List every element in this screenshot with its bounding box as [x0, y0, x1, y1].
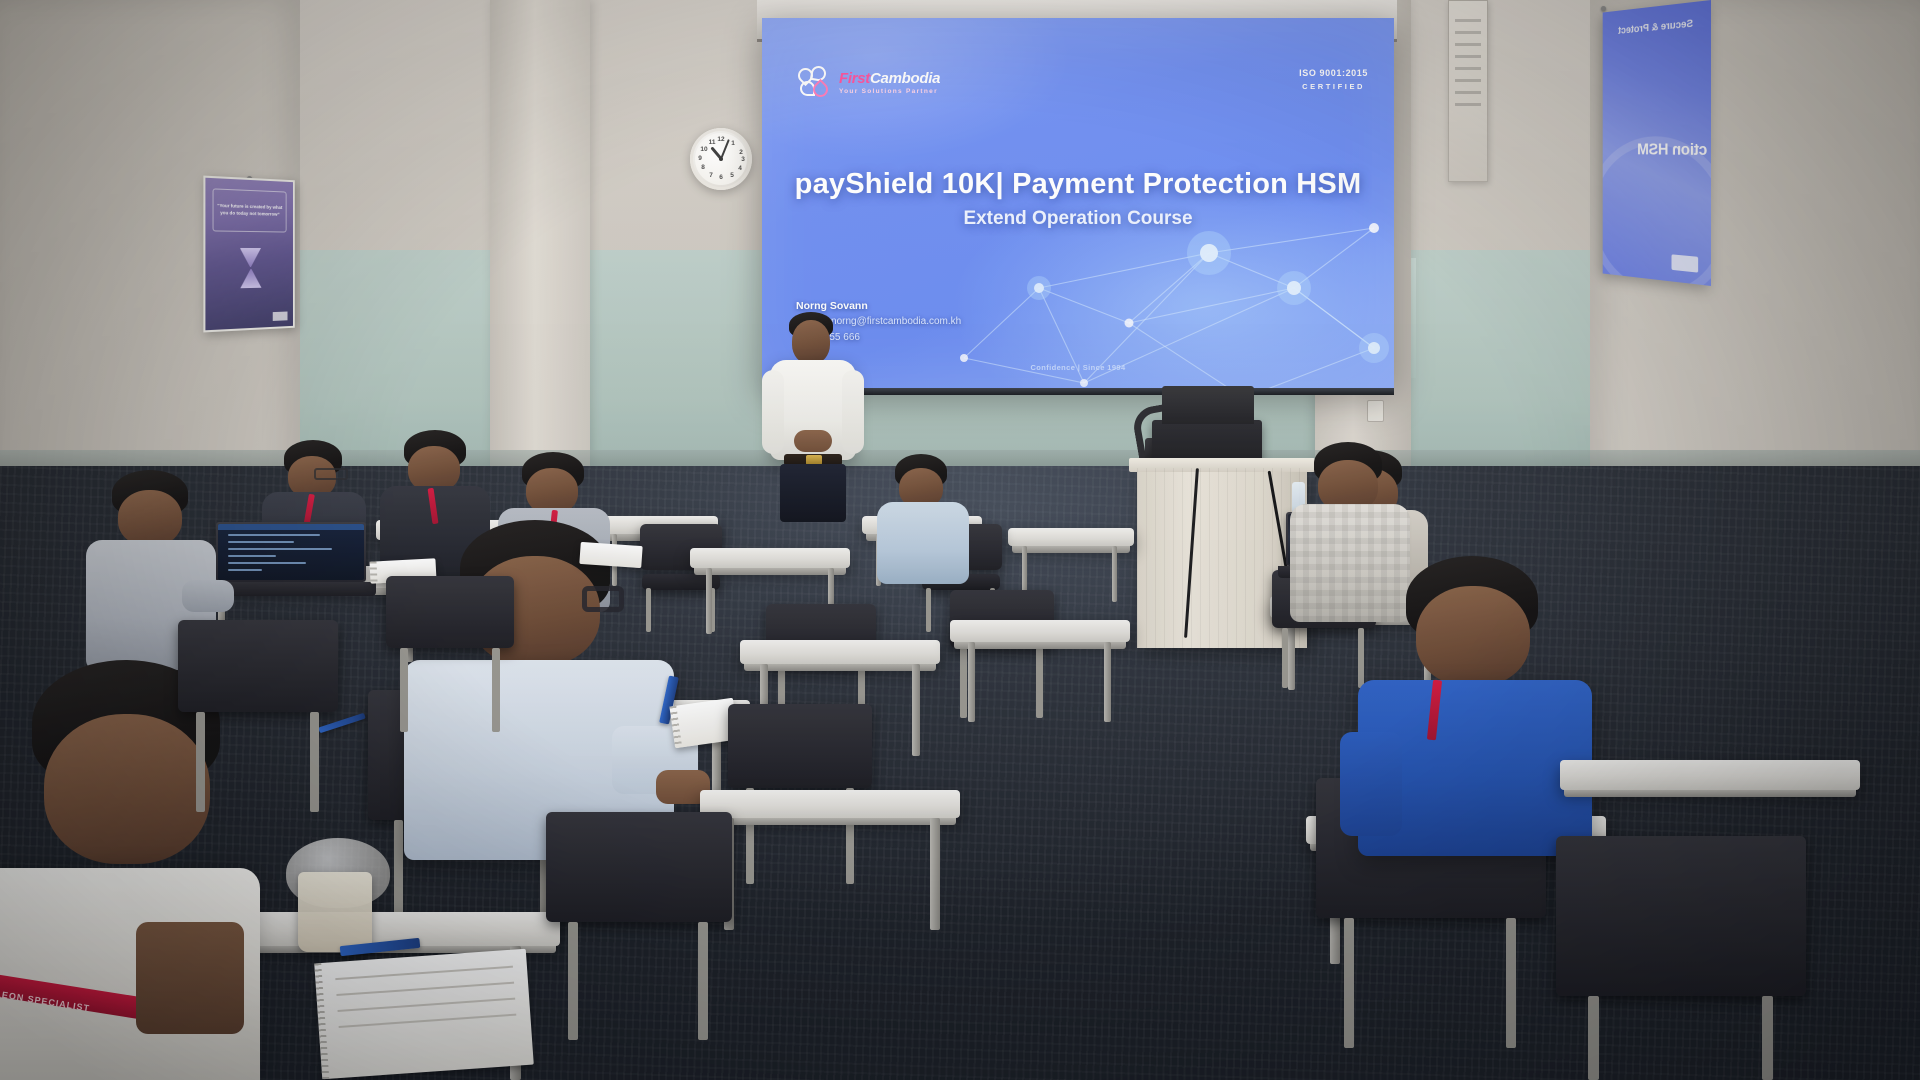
logo-brand-second: Cambodia: [870, 70, 940, 87]
hourglass-icon: [240, 248, 261, 288]
drink-cup: [298, 872, 372, 952]
clock-numeral: 5: [727, 172, 737, 179]
network-nodes-graphic: [944, 168, 1394, 388]
slide-logo: FirstCambodia Your Solutions Partner: [798, 66, 940, 100]
desk: [1560, 760, 1860, 790]
clock-numeral: 3: [738, 156, 748, 163]
clock-numeral: 10: [699, 146, 709, 153]
slide-title: payShield 10K| Payment Protection HSM: [762, 168, 1394, 201]
slide-subtitle: Extend Operation Course: [762, 208, 1394, 230]
clock-numeral: 4: [735, 165, 745, 172]
desk: [740, 640, 940, 664]
iso-certification-badge: ISO 9001:2015 CERTIFIED: [1299, 68, 1368, 91]
notebook: [579, 542, 642, 568]
flower-petal-logo-icon: [798, 66, 832, 100]
iso-certified-text: CERTIFIED: [1299, 82, 1368, 91]
seated-attendee: [875, 454, 971, 584]
logo-tagline: Your Solutions Partner: [839, 89, 940, 96]
poster-pin: [1601, 6, 1606, 11]
clock-numeral: 12: [716, 136, 726, 143]
classroom-photo-scene: 12 1 2 3 4 5 6 7 8 9 10 11 “Your future …: [0, 0, 1920, 1080]
banner-top-text: Secure & Protect: [1609, 17, 1704, 39]
logo-brand-first: First: [839, 70, 870, 87]
laptop-terminal-screen: [218, 524, 364, 580]
clock-numeral: 2: [736, 149, 746, 156]
wall-banner-right: Secure & Protect ction HSM: [1603, 0, 1711, 286]
wall-control-panel: [1448, 0, 1488, 182]
desk: [690, 548, 850, 568]
banner-logo: [1672, 254, 1699, 272]
seated-attendee-foreground: AEON SPECIALIST: [0, 660, 260, 1080]
clock-numeral: 8: [698, 164, 708, 171]
wall-poster-left: “Your future is created by what you do t…: [203, 176, 294, 333]
clock-numeral: 1: [728, 140, 738, 147]
seated-attendee: [404, 520, 674, 850]
clock-numeral: 9: [695, 155, 705, 162]
desk: [1008, 528, 1134, 546]
desk: [700, 790, 960, 818]
laptop-terminal: [216, 522, 366, 596]
desk: [950, 620, 1130, 642]
notebook: [314, 949, 534, 1080]
wall-power-socket: [1367, 400, 1384, 422]
poster-logo: [273, 312, 288, 321]
clock-center-pin: [719, 157, 723, 161]
poster-quote-text: “Your future is created by what you do t…: [213, 188, 287, 232]
clock-numeral: 7: [706, 172, 716, 179]
iso-standard-text: ISO 9001:2015: [1299, 68, 1368, 78]
presenter-standing: [760, 312, 870, 522]
banner-bottom-text: ction HSM: [1603, 140, 1708, 160]
left-column: [490, 0, 590, 470]
wall-clock-icon: 12 1 2 3 4 5 6 7 8 9 10 11: [690, 128, 752, 190]
clock-numeral: 6: [716, 174, 726, 181]
clock-numeral: 11: [707, 139, 717, 146]
seated-attendee: [1358, 556, 1592, 856]
